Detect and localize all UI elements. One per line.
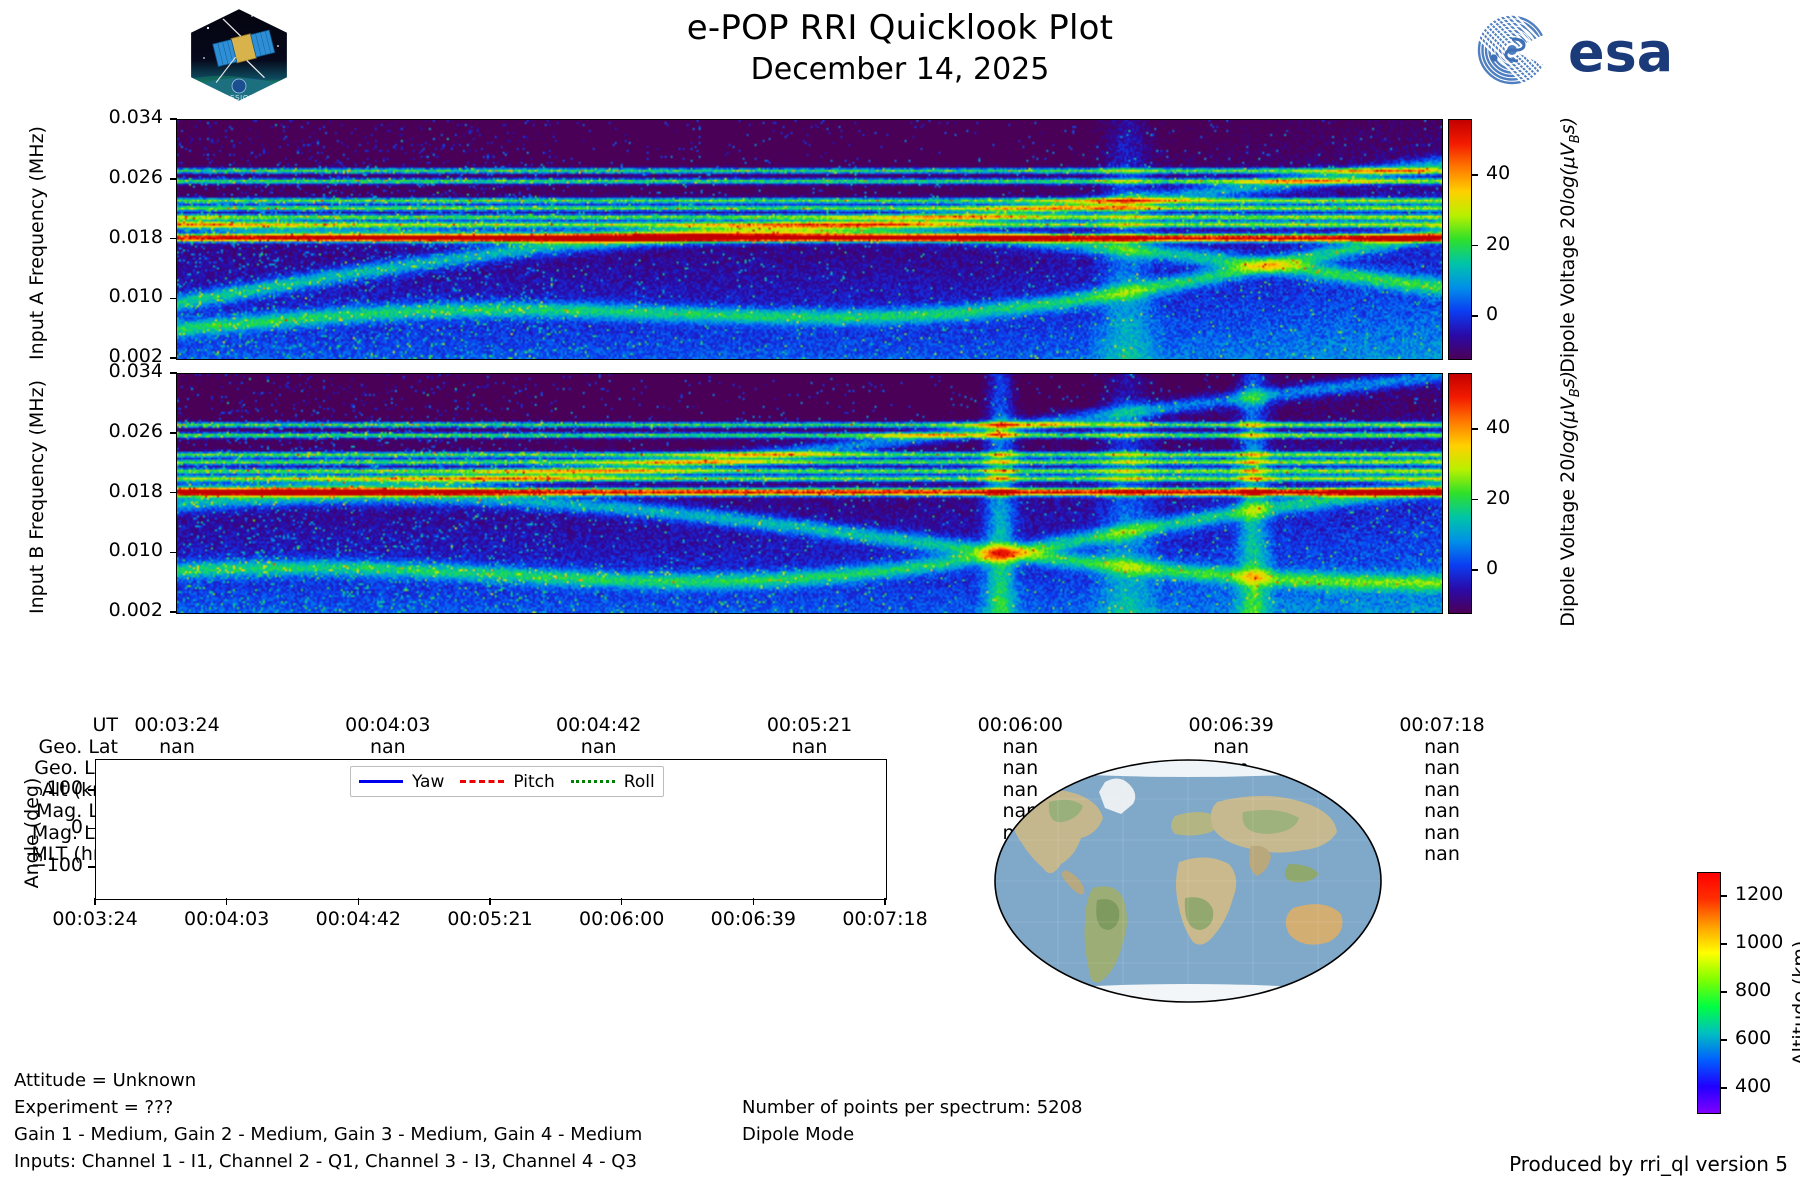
ytick-label: 0.034: [91, 360, 163, 382]
attitude-xtick-mark: [621, 898, 623, 905]
param-cell: nan: [792, 736, 828, 758]
spectrogram-b-ylabel: Input B Frequency (MHz): [26, 367, 48, 627]
cbar-tick-label: 40: [1486, 416, 1510, 438]
attitude-ytick-label: 100: [11, 777, 83, 799]
param-row: Geo. Latnannannannannannannan: [0, 736, 1480, 758]
cbar-tick-label: 20: [1486, 487, 1510, 509]
voltage-colorbar-a: [1448, 119, 1472, 360]
attitude-xtick-label: 00:03:24: [52, 908, 137, 930]
attitude-xtick-label: 00:05:21: [447, 908, 532, 930]
legend-swatch-pitch: [460, 780, 504, 783]
legend-item-pitch: Pitch: [460, 772, 554, 792]
cbar-tick-mark: [1471, 428, 1478, 430]
attitude-ytick-mark: [88, 866, 95, 868]
cbar-tick-label: 20: [1486, 233, 1510, 255]
cbar-tick-label: 0: [1486, 303, 1498, 325]
cbar-tick-mark: [1471, 569, 1478, 571]
ytick-mark: [170, 357, 177, 359]
cbar-b-label-main: Dipole Voltage 20: [1557, 459, 1579, 627]
footer-attitude: Attitude = Unknown: [14, 1070, 196, 1091]
cbar-b-label-sub: B: [1568, 388, 1583, 397]
altitude-colorbar-label: Altitude (km): [1789, 883, 1800, 1123]
param-cell: nan: [1002, 736, 1038, 758]
attitude-xtick-label: 00:04:42: [316, 908, 401, 930]
param-cell: nan: [159, 736, 195, 758]
ytick-mark: [170, 118, 177, 120]
param-cell: nan: [581, 736, 617, 758]
cbar-tick-mark: [1720, 895, 1727, 897]
ytick-mark: [170, 178, 177, 180]
cbar-tick-mark: [1720, 1039, 1727, 1041]
legend-swatch-roll: [571, 780, 615, 783]
param-cell: nan: [1424, 822, 1460, 844]
param-cell: 00:04:42: [556, 714, 641, 736]
param-cell: nan: [1213, 736, 1249, 758]
legend-label: Roll: [624, 772, 655, 792]
param-row-label: UT: [0, 714, 118, 736]
param-cell: 00:03:24: [134, 714, 219, 736]
legend-label: Yaw: [412, 772, 444, 792]
cbar-a-label-tail: s): [1557, 117, 1579, 134]
ytick-label: 0.018: [91, 226, 163, 248]
legend-label: Pitch: [513, 772, 554, 792]
ground-track-world-map: [993, 758, 1383, 1004]
cbar-tick-mark: [1471, 245, 1478, 247]
cbar-tick-label: 0: [1486, 557, 1498, 579]
param-row: UT00:03:2400:04:0300:04:4200:05:2100:06:…: [0, 714, 1480, 736]
voltage-colorbar-b: [1448, 373, 1472, 614]
param-row-label: Geo. Lat: [0, 736, 118, 758]
ytick-label: 0.026: [91, 420, 163, 442]
footer-produced-by: Produced by rri_ql version 5: [1509, 1152, 1788, 1176]
attitude-xtick-label: 00:04:03: [184, 908, 269, 930]
param-cell: nan: [1424, 843, 1460, 865]
param-cell: 00:07:18: [1399, 714, 1484, 736]
ytick-mark: [170, 611, 177, 613]
attitude-xtick-mark: [94, 898, 96, 905]
ytick-label: 0.010: [91, 539, 163, 561]
ytick-label: 0.018: [91, 480, 163, 502]
ytick-label: 0.010: [91, 285, 163, 307]
param-cell: nan: [370, 736, 406, 758]
cbar-a-label-sub: B: [1568, 134, 1583, 143]
ytick-mark: [170, 372, 177, 374]
footer-mode: Dipole Mode: [742, 1124, 854, 1145]
cbar-b-label-tail: s): [1557, 371, 1579, 388]
cbar-tick-mark: [1720, 991, 1727, 993]
attitude-xtick-mark: [884, 898, 886, 905]
spectrogram-panel-input-b: [176, 373, 1443, 614]
ytick-label: 0.002: [91, 599, 163, 621]
ytick-mark: [170, 432, 177, 434]
legend-item-yaw: Yaw: [359, 772, 444, 792]
voltage-colorbar-b-label: Dipole Voltage 20log(μVBs): [1557, 329, 1583, 669]
footer-points: Number of points per spectrum: 5208: [742, 1097, 1083, 1118]
cbar-tick-label: 1000: [1735, 931, 1783, 953]
cbar-tick-label: 40: [1486, 162, 1510, 184]
attitude-xtick-label: 00:06:39: [711, 908, 796, 930]
attitude-xtick-mark: [226, 898, 228, 905]
legend-swatch-yaw: [359, 780, 403, 783]
attitude-legend: YawPitchRoll: [350, 766, 664, 797]
ytick-label: 0.034: [91, 106, 163, 128]
cbar-b-label-italic: log(μV: [1557, 397, 1579, 458]
param-cell: 00:04:03: [345, 714, 430, 736]
cassiope-satellite-logo: CASSIOPE: [186, 6, 292, 104]
param-cell: nan: [1424, 800, 1460, 822]
param-cell: 00:06:39: [1188, 714, 1273, 736]
cbar-tick-mark: [1720, 943, 1727, 945]
ytick-mark: [170, 298, 177, 300]
footer-experiment: Experiment = ???: [14, 1097, 173, 1118]
ytick-label: 0.026: [91, 166, 163, 188]
altitude-colorbar: [1697, 872, 1721, 1114]
attitude-xtick-mark: [358, 898, 360, 905]
spectrogram-panel-input-a: [176, 119, 1443, 360]
cbar-tick-label: 400: [1735, 1075, 1771, 1097]
attitude-xtick-mark: [489, 898, 491, 905]
footer-inputs: Inputs: Channel 1 - I1, Channel 2 - Q1, …: [14, 1151, 637, 1172]
cbar-tick-label: 600: [1735, 1027, 1771, 1049]
esa-wordmark: esa: [1568, 21, 1673, 84]
param-cell: 00:06:00: [978, 714, 1063, 736]
param-cell: nan: [1424, 736, 1460, 758]
ytick-mark: [170, 492, 177, 494]
spectrogram-a-ylabel: Input A Frequency (MHz): [26, 113, 48, 373]
cbar-tick-mark: [1471, 499, 1478, 501]
attitude-ytick-mark: [88, 789, 95, 791]
attitude-ytick-label: 0: [11, 816, 83, 838]
param-cell: 00:05:21: [767, 714, 852, 736]
cbar-tick-mark: [1720, 1087, 1727, 1089]
ytick-mark: [170, 238, 177, 240]
attitude-ytick-label: −100: [11, 854, 83, 876]
param-cell: nan: [1424, 757, 1460, 779]
attitude-ytick-mark: [88, 828, 95, 830]
attitude-xtick-label: 00:06:00: [579, 908, 664, 930]
cbar-tick-label: 800: [1735, 979, 1771, 1001]
attitude-xtick-mark: [753, 898, 755, 905]
ytick-mark: [170, 552, 177, 554]
footer-gains: Gain 1 - Medium, Gain 2 - Medium, Gain 3…: [14, 1124, 642, 1145]
cbar-tick-label: 1200: [1735, 883, 1783, 905]
param-cell: nan: [1424, 779, 1460, 801]
cbar-tick-mark: [1471, 174, 1478, 176]
attitude-xtick-label: 00:07:18: [842, 908, 927, 930]
cbar-a-label-italic: log(μV: [1557, 143, 1579, 204]
cbar-tick-mark: [1471, 315, 1478, 317]
legend-item-roll: Roll: [571, 772, 655, 792]
